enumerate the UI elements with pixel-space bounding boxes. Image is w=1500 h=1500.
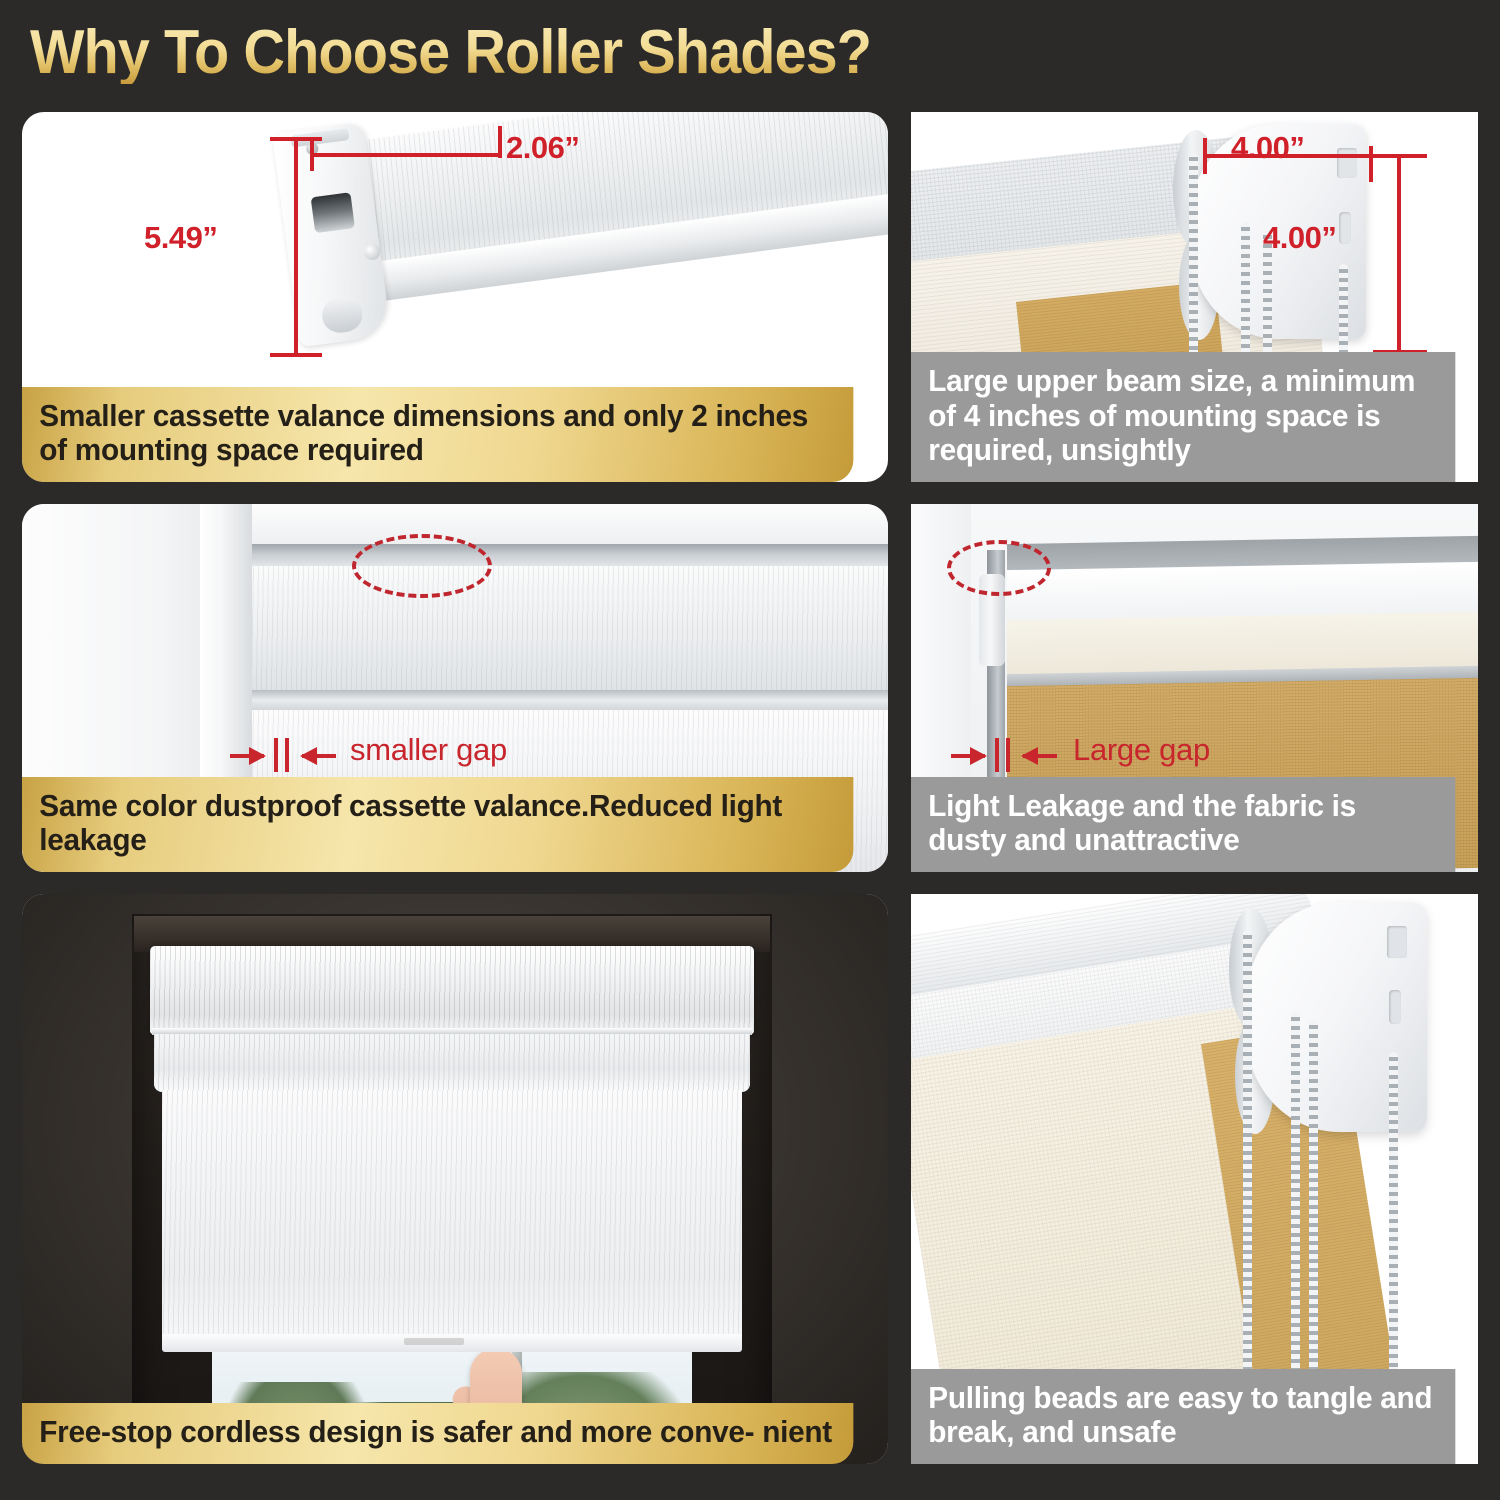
- brand-mark: [404, 1338, 464, 1345]
- width-tick-right: [498, 126, 502, 158]
- panel-smaller-cassette: 2.06” 5.49” Smaller cassette valance dim…: [22, 112, 888, 482]
- height-dimension-label: 4.00”: [1263, 220, 1336, 256]
- width-dimension-line: [312, 153, 502, 157]
- width-dimension-label: 2.06”: [506, 130, 579, 166]
- page-title: Why To Choose Roller Shades?: [30, 22, 1397, 84]
- gap-arrow-left: [230, 754, 264, 758]
- window-head-jamb: [236, 504, 888, 548]
- height-dimension-line: [294, 137, 298, 357]
- cassette-valance: [150, 946, 754, 1034]
- end-cap-screw-lower: [320, 294, 364, 335]
- gap-label: smaller gap: [350, 732, 507, 768]
- bracket-hook-upper: [1387, 926, 1407, 958]
- height-dimension-label: 5.49”: [144, 220, 217, 256]
- end-cap-slot: [311, 192, 355, 233]
- width-tick-left: [1203, 138, 1207, 174]
- width-tick-left: [310, 137, 314, 171]
- panel-dustproof-valance: smaller gap Same color dustproof cassett…: [22, 504, 888, 872]
- height-dimension-line: [1397, 154, 1401, 354]
- panel-5-caption: Free-stop cordless design is safer and m…: [22, 1403, 853, 1464]
- end-cap-screw-upper: [363, 243, 381, 261]
- gap-label: Large gap: [1073, 732, 1210, 768]
- panel-1-caption: Smaller cassette valance dimensions and …: [22, 387, 853, 482]
- width-tick-right: [1369, 146, 1373, 182]
- width-dimension-label: 4.00”: [1231, 130, 1304, 166]
- gap-arrow-left: [951, 754, 985, 758]
- shade-fabric-upper: [238, 566, 888, 694]
- panel-2-caption: Large upper beam size, a minimum of 4 in…: [911, 352, 1455, 482]
- shade-fabric: [162, 1090, 742, 1340]
- height-tick-top: [270, 137, 322, 141]
- gap-arrow-right: [1023, 754, 1057, 758]
- panel-cordless-design: Free-stop cordless design is safer and m…: [22, 894, 888, 1464]
- bracket-hook-lower: [1389, 990, 1401, 1024]
- panel-large-upper-beam: 4.00” 4.00” Large upper beam size, a min…: [911, 112, 1478, 482]
- panel-3-caption: Same color dustproof cassette valance.Re…: [22, 777, 853, 872]
- bracket-hook-upper: [1337, 148, 1357, 178]
- panel-6-caption: Pulling beads are easy to tangle and bre…: [911, 1369, 1455, 1464]
- height-tick-top: [1373, 154, 1427, 158]
- highlight-ellipse: [947, 540, 1051, 596]
- valance-lower-face: [154, 1034, 750, 1092]
- panel-4-caption: Light Leakage and the fabric is dusty an…: [911, 777, 1455, 872]
- cassette-valance-graphic: [272, 112, 888, 362]
- height-tick-bottom: [270, 353, 322, 357]
- panel-pulling-beads: Pulling beads are easy to tangle and bre…: [911, 894, 1478, 1464]
- header: Why To Choose Roller Shades?: [0, 0, 1500, 112]
- gap-arrow-right: [302, 754, 336, 758]
- bracket-hook-lower: [1339, 212, 1351, 244]
- comparison-grid: 2.06” 5.49” Smaller cassette valance dim…: [22, 112, 1478, 1482]
- panel-5-photo: [22, 894, 888, 1464]
- shade-roller-bar: [238, 690, 888, 712]
- highlight-ellipse: [352, 534, 492, 598]
- panel-light-leakage: Large gap Light Leakage and the fabric i…: [911, 504, 1478, 872]
